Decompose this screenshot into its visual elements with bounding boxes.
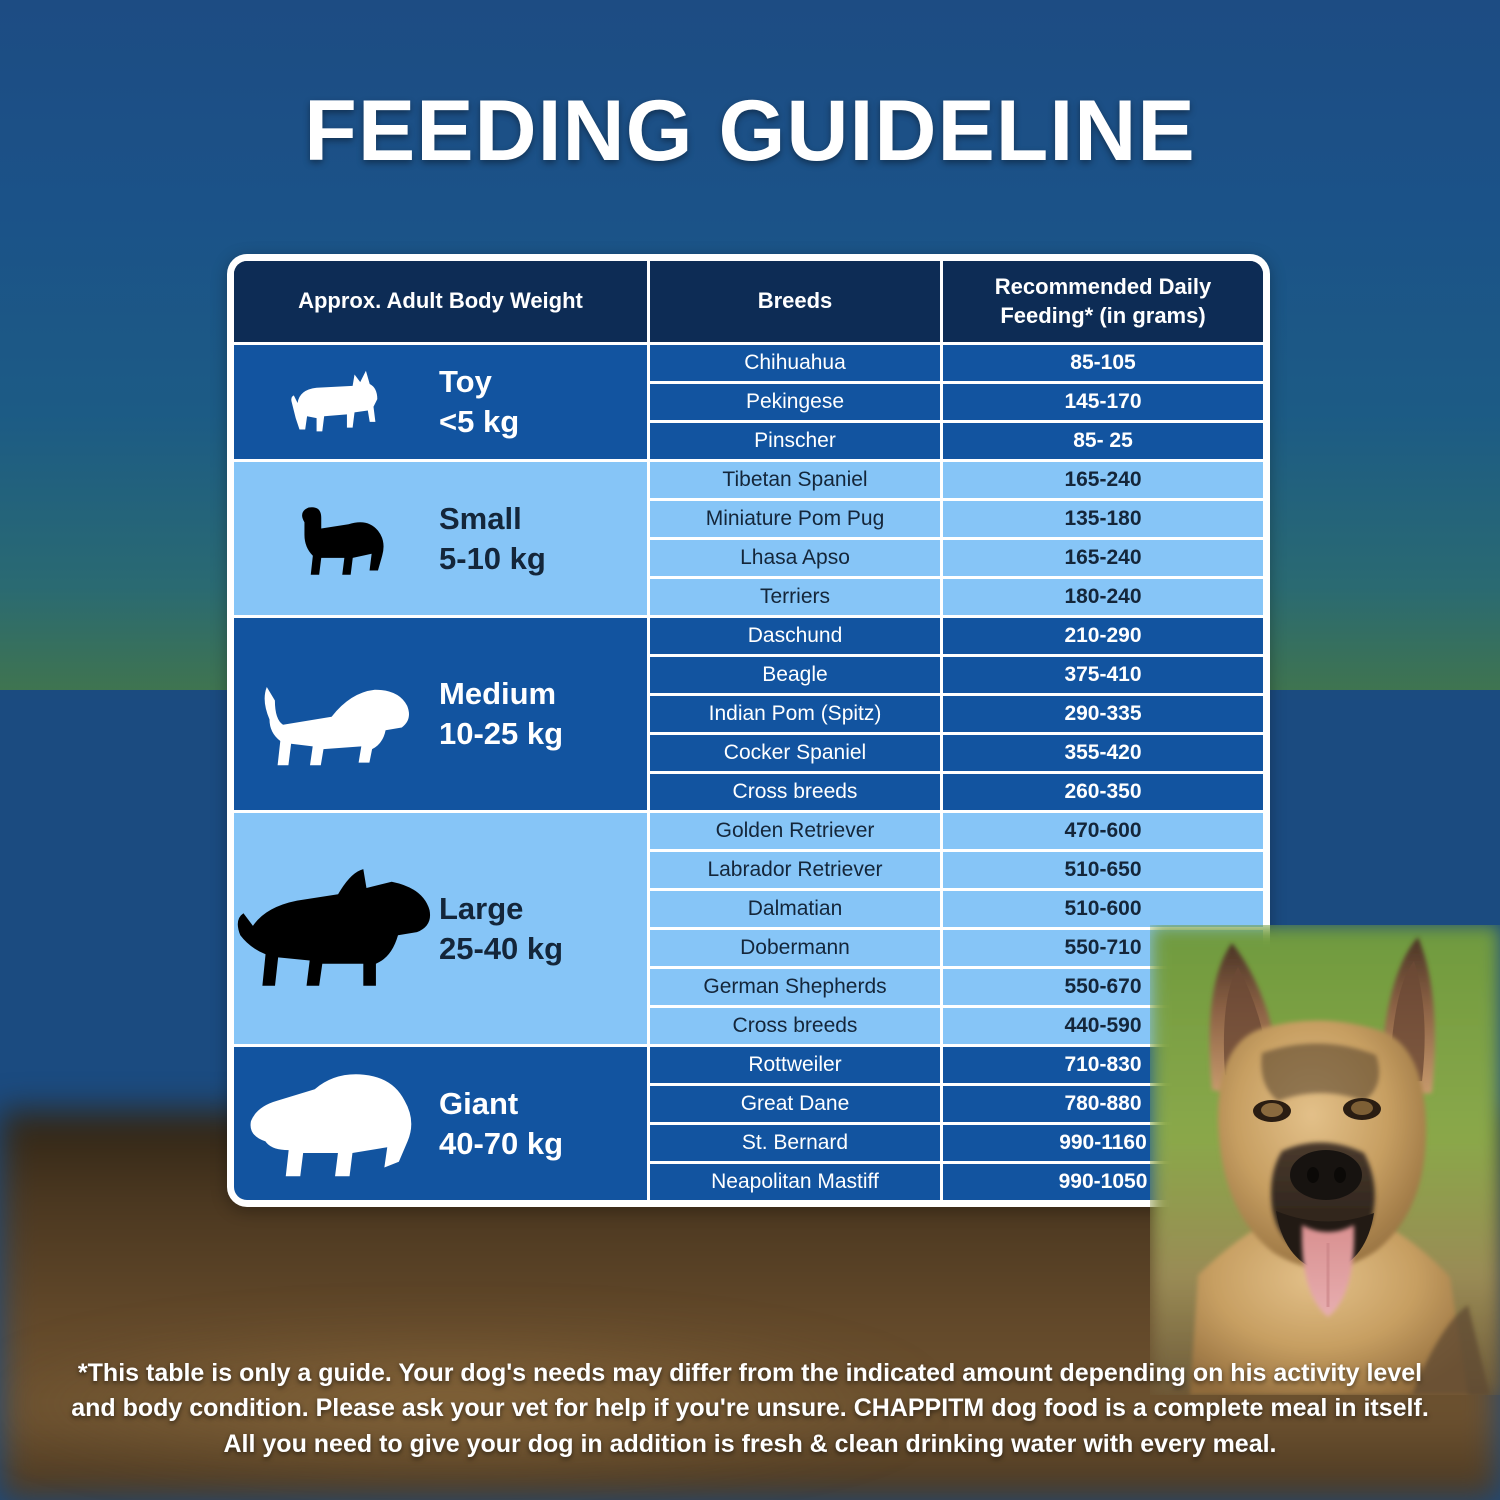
breed-name-cell: Cocker Spaniel xyxy=(650,735,943,771)
size-label-small: Small5-10 kg xyxy=(439,499,546,578)
daily-feeding-amount-cell: 355-420 xyxy=(943,735,1263,771)
table-row: Indian Pom (Spitz)290-335 xyxy=(650,693,1263,732)
size-name: Toy xyxy=(439,362,519,402)
daily-feeding-amount-cell: 180-240 xyxy=(943,579,1263,615)
size-category-cell-large: Large25-40 kg xyxy=(234,810,650,1044)
table-row: Pekingese145-170 xyxy=(650,381,1263,420)
size-label-large: Large25-40 kg xyxy=(439,889,563,968)
daily-feeding-amount-cell: 510-650 xyxy=(943,852,1263,888)
column-header-daily-feeding: Recommended Daily Feeding* (in grams) xyxy=(943,261,1263,342)
column-header-body-weight: Approx. Adult Body Weight xyxy=(234,261,650,342)
size-label-toy: Toy<5 kg xyxy=(439,362,519,441)
size-weight-range: 25-40 kg xyxy=(439,929,563,969)
feeding-guideline-table: Approx. Adult Body Weight Breeds Recomme… xyxy=(234,261,1263,1200)
breed-name-cell: German Shepherds xyxy=(650,969,943,1005)
breed-name-cell: St. Bernard xyxy=(650,1125,943,1161)
daily-feeding-amount-cell: 135-180 xyxy=(943,501,1263,537)
daily-feeding-amount-cell: 210-290 xyxy=(943,618,1263,654)
breed-name-cell: Lhasa Apso xyxy=(650,540,943,576)
table-row: Labrador Retriever510-650 xyxy=(650,849,1263,888)
column-header-daily-feeding-line2: Feeding* (in grams) xyxy=(1000,303,1205,328)
disclaimer-text: *This table is only a guide. Your dog's … xyxy=(55,1356,1445,1463)
table-row: Beagle375-410 xyxy=(650,654,1263,693)
size-weight-range: 40-70 kg xyxy=(439,1124,563,1164)
size-group-small: Small5-10 kgTibetan Spaniel165-240Miniat… xyxy=(234,459,1263,615)
daily-feeding-amount-cell: 260-350 xyxy=(943,774,1263,810)
size-label-medium: Medium10-25 kg xyxy=(439,674,563,753)
table-body: Toy<5 kgChihuahua85-105Pekingese145-170P… xyxy=(234,342,1263,1200)
daily-feeding-amount-cell: 165-240 xyxy=(943,540,1263,576)
table-row: Lhasa Apso165-240 xyxy=(650,537,1263,576)
breed-name-cell: Pinscher xyxy=(650,423,943,459)
table-row: Tibetan Spaniel165-240 xyxy=(650,459,1263,498)
mastiff-silhouette-icon xyxy=(234,1066,439,1182)
size-name: Large xyxy=(439,889,563,929)
size-weight-range: <5 kg xyxy=(439,402,519,442)
breed-name-cell: Cross breeds xyxy=(650,1008,943,1044)
feeding-guideline-table-card: Approx. Adult Body Weight Breeds Recomme… xyxy=(227,254,1270,1207)
breed-name-cell: Chihuahua xyxy=(650,345,943,381)
size-name: Medium xyxy=(439,674,563,714)
size-category-cell-toy: Toy<5 kg xyxy=(234,342,650,459)
breed-rows-small: Tibetan Spaniel165-240Miniature Pom Pug1… xyxy=(650,459,1263,615)
daily-feeding-amount-cell: 85- 25 xyxy=(943,423,1263,459)
size-weight-range: 5-10 kg xyxy=(439,539,546,579)
breed-rows-toy: Chihuahua85-105Pekingese145-170Pinscher8… xyxy=(650,342,1263,459)
breed-name-cell: Daschund xyxy=(650,618,943,654)
column-header-breeds: Breeds xyxy=(650,261,943,342)
breed-name-cell: Pekingese xyxy=(650,384,943,420)
daily-feeding-amount-cell: 145-170 xyxy=(943,384,1263,420)
size-category-cell-small: Small5-10 kg xyxy=(234,459,650,615)
size-group-medium: Medium10-25 kgDaschund210-290Beagle375-4… xyxy=(234,615,1263,810)
size-category-cell-medium: Medium10-25 kg xyxy=(234,615,650,810)
daily-feeding-amount-cell: 470-600 xyxy=(943,813,1263,849)
size-name: Giant xyxy=(439,1084,563,1124)
table-row: Cocker Spaniel355-420 xyxy=(650,732,1263,771)
size-name: Small xyxy=(439,499,546,539)
table-row: Cross breeds260-350 xyxy=(650,771,1263,810)
table-row: Terriers180-240 xyxy=(650,576,1263,615)
daily-feeding-amount-cell: 510-600 xyxy=(943,891,1263,927)
breed-name-cell: Golden Retriever xyxy=(650,813,943,849)
shepherd-silhouette-icon xyxy=(234,865,439,993)
chihuahua-silhouette-icon xyxy=(234,365,439,439)
size-group-toy: Toy<5 kgChihuahua85-105Pekingese145-170P… xyxy=(234,342,1263,459)
german-shepherd-photo xyxy=(1150,925,1500,1395)
pug-silhouette-icon xyxy=(234,497,439,581)
table-row: Golden Retriever470-600 xyxy=(650,810,1263,849)
daily-feeding-amount-cell: 85-105 xyxy=(943,345,1263,381)
breed-name-cell: Neapolitan Mastiff xyxy=(650,1164,943,1200)
size-group-large: Large25-40 kgGolden Retriever470-600Labr… xyxy=(234,810,1263,1044)
breed-name-cell: Great Dane xyxy=(650,1086,943,1122)
breed-name-cell: Terriers xyxy=(650,579,943,615)
table-row: Dalmatian510-600 xyxy=(650,888,1263,927)
breed-name-cell: Miniature Pom Pug xyxy=(650,501,943,537)
breed-name-cell: Cross breeds xyxy=(650,774,943,810)
breed-name-cell: Dalmatian xyxy=(650,891,943,927)
size-weight-range: 10-25 kg xyxy=(439,714,563,754)
size-group-giant: Giant40-70 kgRottweiler710-830Great Dane… xyxy=(234,1044,1263,1200)
page-title: FEEDING GUIDELINE xyxy=(0,88,1500,174)
table-row: Daschund210-290 xyxy=(650,615,1263,654)
beagle-silhouette-icon xyxy=(234,660,439,768)
table-row: Chihuahua85-105 xyxy=(650,342,1263,381)
column-header-daily-feeding-line1: Recommended Daily xyxy=(995,274,1211,299)
daily-feeding-amount-cell: 290-335 xyxy=(943,696,1263,732)
table-row: Miniature Pom Pug135-180 xyxy=(650,498,1263,537)
breed-name-cell: Tibetan Spaniel xyxy=(650,462,943,498)
size-label-giant: Giant40-70 kg xyxy=(439,1084,563,1163)
size-category-cell-giant: Giant40-70 kg xyxy=(234,1044,650,1200)
breed-rows-medium: Daschund210-290Beagle375-410Indian Pom (… xyxy=(650,615,1263,810)
breed-name-cell: Indian Pom (Spitz) xyxy=(650,696,943,732)
breed-name-cell: Beagle xyxy=(650,657,943,693)
daily-feeding-amount-cell: 165-240 xyxy=(943,462,1263,498)
breed-name-cell: Labrador Retriever xyxy=(650,852,943,888)
breed-name-cell: Rottweiler xyxy=(650,1047,943,1083)
daily-feeding-amount-cell: 375-410 xyxy=(943,657,1263,693)
table-header-row: Approx. Adult Body Weight Breeds Recomme… xyxy=(234,261,1263,342)
table-row: Pinscher85- 25 xyxy=(650,420,1263,459)
breed-name-cell: Dobermann xyxy=(650,930,943,966)
